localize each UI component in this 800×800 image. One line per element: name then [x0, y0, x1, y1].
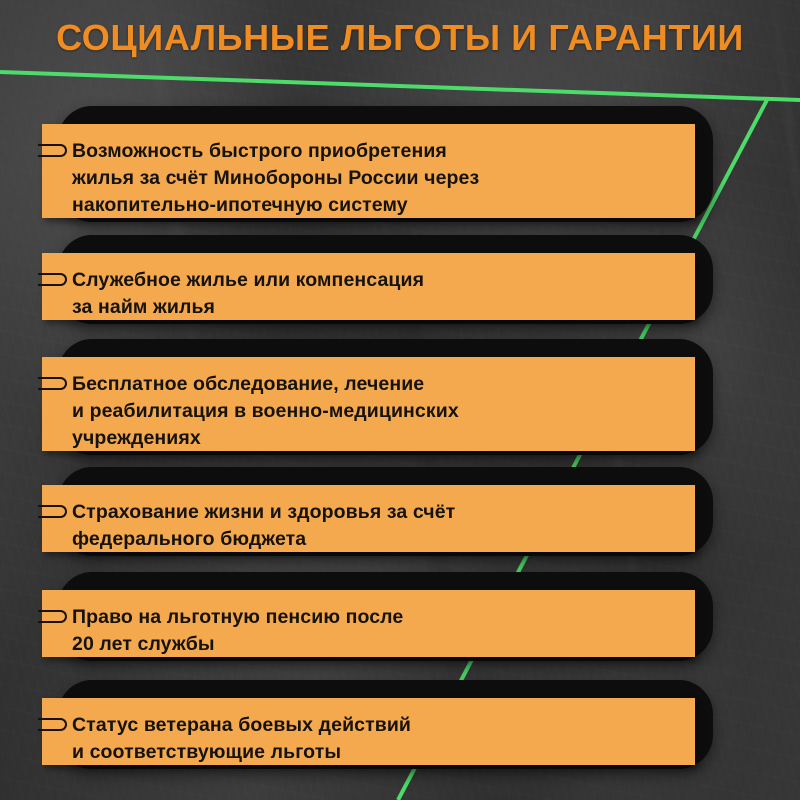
- benefit-text: Возможность быстрого приобретения жилья …: [72, 138, 677, 219]
- rounded-tab-marker-icon: [38, 718, 67, 731]
- rounded-tab-marker-icon: [38, 505, 67, 518]
- rounded-tab-marker-icon: [38, 273, 67, 286]
- benefit-text: Право на льготную пенсию после 20 лет сл…: [72, 604, 677, 658]
- card-panel: Бесплатное обследование, лечение и реаби…: [42, 357, 695, 451]
- card-panel: Служебное жилье или компенсация за найм …: [42, 253, 695, 320]
- card-panel: Статус ветерана боевых действий и соотве…: [42, 698, 695, 765]
- rounded-tab-marker-icon: [38, 610, 67, 623]
- rounded-tab-marker-icon: [38, 144, 67, 157]
- rounded-tab-marker-icon: [38, 377, 67, 390]
- benefit-text: Статус ветерана боевых действий и соотве…: [72, 712, 677, 766]
- card-panel: Страхование жизни и здоровья за счёт фед…: [42, 485, 695, 552]
- card-panel: Право на льготную пенсию после 20 лет сл…: [42, 590, 695, 657]
- benefit-text: Бесплатное обследование, лечение и реаби…: [72, 371, 677, 452]
- benefit-text: Служебное жилье или компенсация за найм …: [72, 267, 677, 321]
- benefits-list: Возможность быстрого приобретения жилья …: [0, 0, 800, 800]
- card-panel: Возможность быстрого приобретения жилья …: [42, 124, 695, 218]
- benefit-text: Страхование жизни и здоровья за счёт фед…: [72, 499, 677, 553]
- infographic-poster: СОЦИАЛЬНЫЕ ЛЬГОТЫ И ГАРАНТИИ Возможность…: [0, 0, 800, 800]
